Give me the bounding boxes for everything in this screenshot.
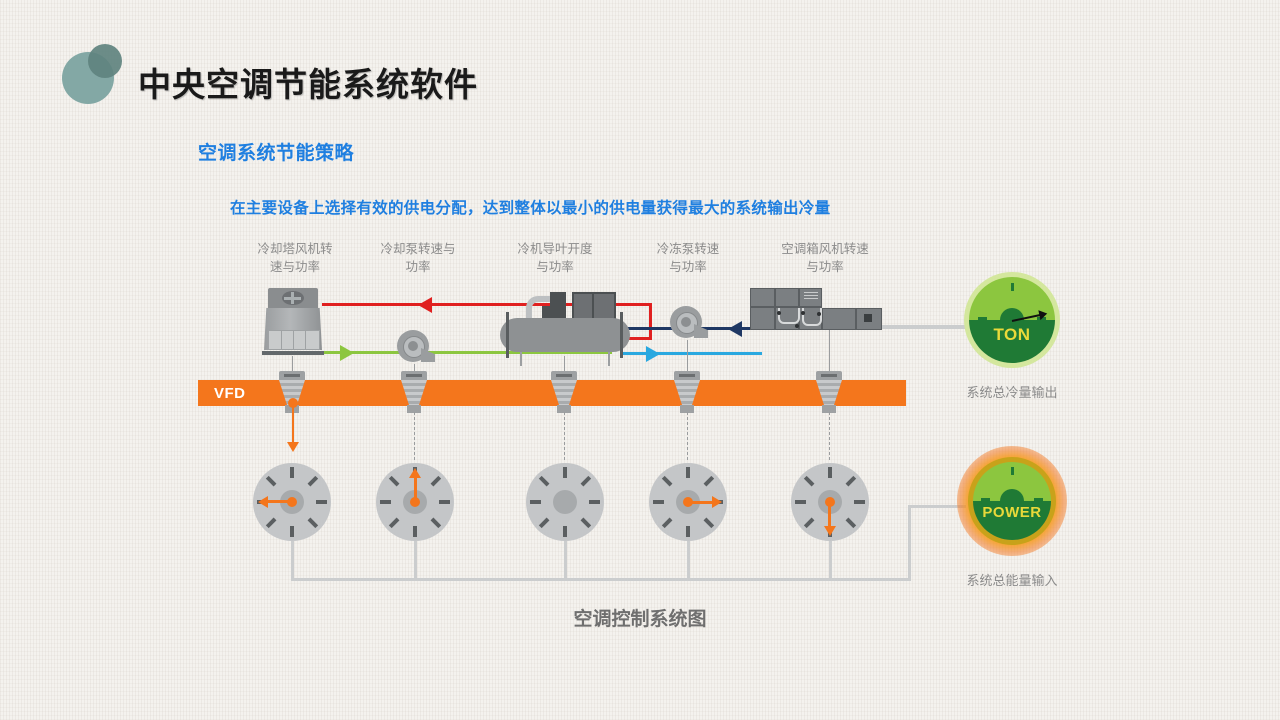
- label-line-1: 冷冻泵转速: [628, 240, 748, 258]
- ahu-fins: [804, 295, 818, 296]
- ahu-connection-dot: [817, 312, 821, 316]
- ton-gauge-ring: TON: [964, 272, 1060, 368]
- pump-hub: [681, 317, 691, 327]
- label-line-2: 与功率: [495, 258, 615, 276]
- drive-cap: [279, 371, 305, 380]
- gauge-tick-top: [1011, 467, 1014, 475]
- power-bus-riser-4: [687, 541, 690, 581]
- power-gauge-caption: 系统总能量输入: [952, 570, 1072, 589]
- ahu-connection-dot: [795, 324, 799, 328]
- tower-louvers: [268, 330, 320, 350]
- chiller-leg-left: [520, 352, 522, 366]
- page-title: 中央空调节能系统软件: [138, 58, 478, 106]
- drive-body: [674, 380, 700, 406]
- vfd-signal-line-3: [564, 412, 565, 460]
- meter-pivot: [825, 497, 835, 507]
- gauge-tick-left: [981, 498, 990, 501]
- drive-cap: [551, 371, 577, 380]
- pipe-condenser-return-vertical: [649, 303, 652, 339]
- power-bus-to-gauge-riser: [908, 505, 911, 581]
- drive-body: [401, 380, 427, 406]
- ahu-access-door: [864, 314, 872, 322]
- strategy-text: 在主要设备上选择有效的供电分配，达到整体以最小的供电量获得最大的系统输出冷量: [230, 196, 830, 218]
- meter-ahu[interactable]: [791, 463, 869, 541]
- label-line-2: 与功率: [756, 258, 894, 276]
- drive-cap: [816, 371, 842, 380]
- label-line-1: 冷却泵转速与: [358, 240, 478, 258]
- equipment-label-chiller: 冷机导叶开度 与功率: [495, 240, 615, 276]
- equipment-label-ahu: 空调箱风机转速 与功率: [756, 240, 894, 276]
- vfd-label: VFD: [214, 385, 246, 402]
- meter-chilled-pump[interactable]: [649, 463, 727, 541]
- gauge-tick-left: [978, 317, 987, 320]
- chiller-shell: [500, 318, 630, 352]
- meter-pivot: [683, 497, 693, 507]
- logo-circle-small: [88, 44, 122, 78]
- drive-cap: [401, 371, 427, 380]
- arrowhead-condenser-supply: [340, 345, 354, 361]
- label-line-1: 冷机导叶开度: [495, 240, 615, 258]
- app-logo: [62, 44, 124, 106]
- chiller-equipment: [500, 290, 630, 360]
- label-line-2: 与功率: [628, 258, 748, 276]
- power-gauge-widget[interactable]: POWER 系统总能量输入: [952, 446, 1072, 589]
- ahu-fan-section: [822, 308, 856, 330]
- label-line-2: 功率: [358, 258, 478, 276]
- arrowhead-chilled-supply: [646, 346, 660, 362]
- ahu-connection-dot: [801, 311, 805, 315]
- power-bus-riser-3: [564, 541, 567, 581]
- gauge-tick-right: [1034, 498, 1043, 501]
- drive-cap: [674, 371, 700, 380]
- meter-pivot: [410, 497, 420, 507]
- arrowhead-condenser-return: [418, 297, 432, 313]
- ahu-equipment: [750, 288, 882, 330]
- label-line-1: 冷却塔风机转: [235, 240, 355, 258]
- power-gauge-glow-ring: POWER: [957, 446, 1067, 556]
- equipment-label-chilled-pump: 冷冻泵转速 与功率: [628, 240, 748, 276]
- equipment-label-cooling-tower: 冷却塔风机转 速与功率: [235, 240, 355, 276]
- label-line-2: 速与功率: [235, 258, 355, 276]
- meter-hub: [553, 490, 577, 514]
- ahu-coil-left: [778, 308, 800, 324]
- power-gauge-bezel: POWER: [968, 457, 1056, 545]
- chiller-leg-right: [608, 352, 610, 366]
- pipe-chilled-supply: [622, 352, 762, 355]
- ton-gauge-widget[interactable]: TON 系统总冷量输出: [952, 272, 1072, 401]
- chilled-pump-equipment: [668, 306, 708, 342]
- pump-hub: [408, 341, 418, 351]
- ahu-fins: [804, 292, 818, 293]
- drive-body: [551, 380, 577, 406]
- vfd-signal-line-4: [687, 412, 688, 460]
- chiller-flange-left: [506, 312, 509, 358]
- gauge-tick-top: [1011, 283, 1014, 291]
- meter-cooling-tower[interactable]: [253, 463, 331, 541]
- ton-gauge-face: TON: [969, 277, 1055, 363]
- vfd-drive-4[interactable]: [674, 371, 700, 413]
- cooling-tower-equipment: [262, 288, 324, 358]
- vfd-signal-arrow-1: [287, 442, 299, 452]
- vfd-signal-line-1: [292, 406, 294, 444]
- ton-gauge-label: TON: [969, 325, 1055, 345]
- chiller-flange-right: [620, 312, 623, 358]
- vfd-drive-3[interactable]: [551, 371, 577, 413]
- label-line-1: 空调箱风机转速: [756, 240, 894, 258]
- diagram-caption: 空调控制系统图: [0, 604, 1280, 631]
- power-gauge-label: POWER: [973, 504, 1051, 521]
- vfd-drive-2[interactable]: [401, 371, 427, 413]
- chiller-control-panel: [572, 292, 616, 320]
- power-gauge-face: POWER: [973, 462, 1051, 540]
- arrowhead-chilled-return: [728, 321, 742, 337]
- vfd-signal-line-5: [829, 412, 830, 460]
- ahu-connection-dot: [777, 311, 781, 315]
- drive-body: [816, 380, 842, 406]
- ahu-panel-divider: [774, 288, 776, 330]
- ahu-coil-right: [802, 308, 822, 326]
- meter-chiller[interactable]: [526, 463, 604, 541]
- tower-base: [262, 351, 324, 355]
- vfd-signal-line-2: [414, 412, 415, 460]
- power-bus-horizontal: [291, 578, 911, 581]
- ahu-fins: [804, 298, 818, 299]
- section-heading: 空调系统节能策略: [198, 138, 354, 165]
- meter-pivot: [287, 497, 297, 507]
- vfd-drive-5[interactable]: [816, 371, 842, 413]
- power-bus-riser-1: [291, 541, 294, 581]
- condenser-pump-equipment: [395, 330, 435, 366]
- ton-gauge-caption: 系统总冷量输出: [952, 382, 1072, 401]
- power-bus-riser-5: [829, 541, 832, 581]
- power-bus-riser-2: [414, 541, 417, 581]
- meter-condenser-pump[interactable]: [376, 463, 454, 541]
- equipment-label-condenser-pump: 冷却泵转速与 功率: [358, 240, 478, 276]
- tower-fan-icon: [282, 291, 304, 305]
